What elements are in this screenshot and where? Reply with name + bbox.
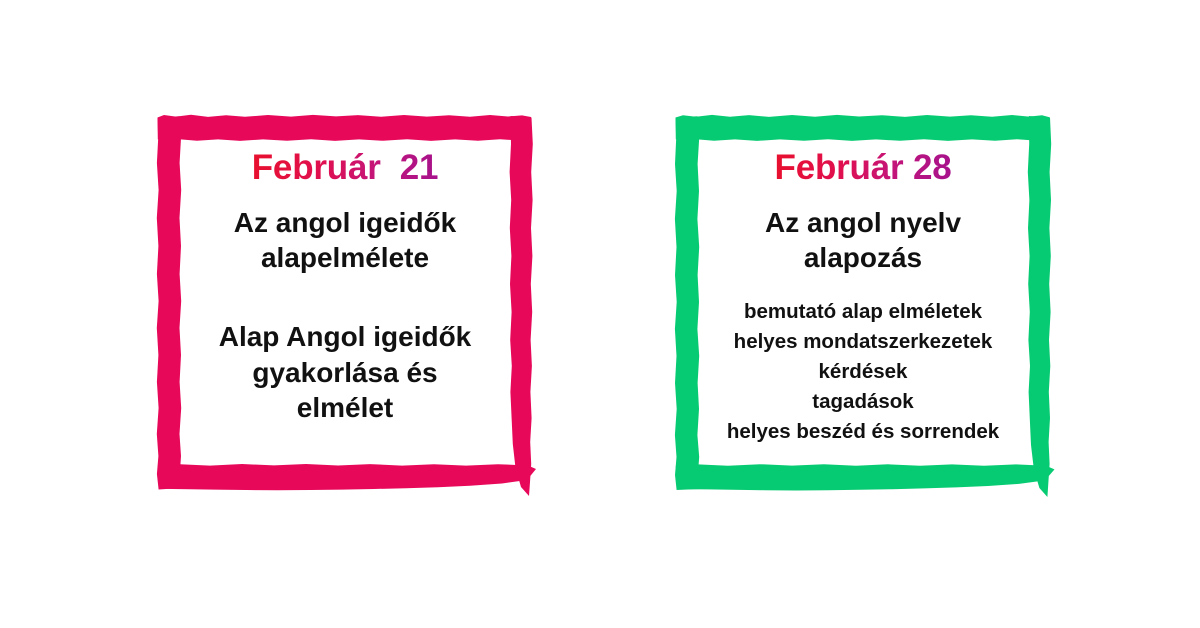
body-line: kérdések: [727, 357, 999, 387]
card-date-pink: Február 21: [252, 150, 439, 187]
heading-line: alapozás: [765, 240, 961, 275]
body-line: tagadások: [727, 387, 999, 417]
body-line: bemutató alap elméletek: [727, 297, 999, 327]
body-line: helyes beszéd és sorrendek: [727, 417, 999, 447]
card-body-pink: Alap Angol igeidők gyakorlása és elmélet: [219, 319, 472, 425]
course-card-green[interactable]: Február 28 Az angol nyelv alapozás bemut…: [668, 108, 1058, 498]
body-line: Alap Angol igeidők: [219, 319, 472, 354]
card-body-green: bemutató alap elméletek helyes mondatsze…: [727, 297, 999, 447]
heading-line: Az angol igeidők: [234, 205, 456, 240]
body-line: elmélet: [219, 390, 472, 425]
card-content-pink: Február 21 Az angol igeidők alapelmélete…: [188, 136, 502, 464]
card-heading-green: Az angol nyelv alapozás: [765, 205, 961, 276]
heading-line: alapelmélete: [234, 240, 456, 275]
card-date-green: Február 28: [775, 150, 952, 187]
course-card-pink[interactable]: Február 21 Az angol igeidők alapelmélete…: [150, 108, 540, 498]
card-heading-pink: Az angol igeidők alapelmélete: [234, 205, 456, 276]
card-content-green: Február 28 Az angol nyelv alapozás bemut…: [706, 136, 1020, 464]
body-line: helyes mondatszerkezetek: [727, 327, 999, 357]
poster-canvas: Február 21 Az angol igeidők alapelmélete…: [0, 0, 1200, 628]
body-line: gyakorlása és: [219, 355, 472, 390]
heading-line: Az angol nyelv: [765, 205, 961, 240]
